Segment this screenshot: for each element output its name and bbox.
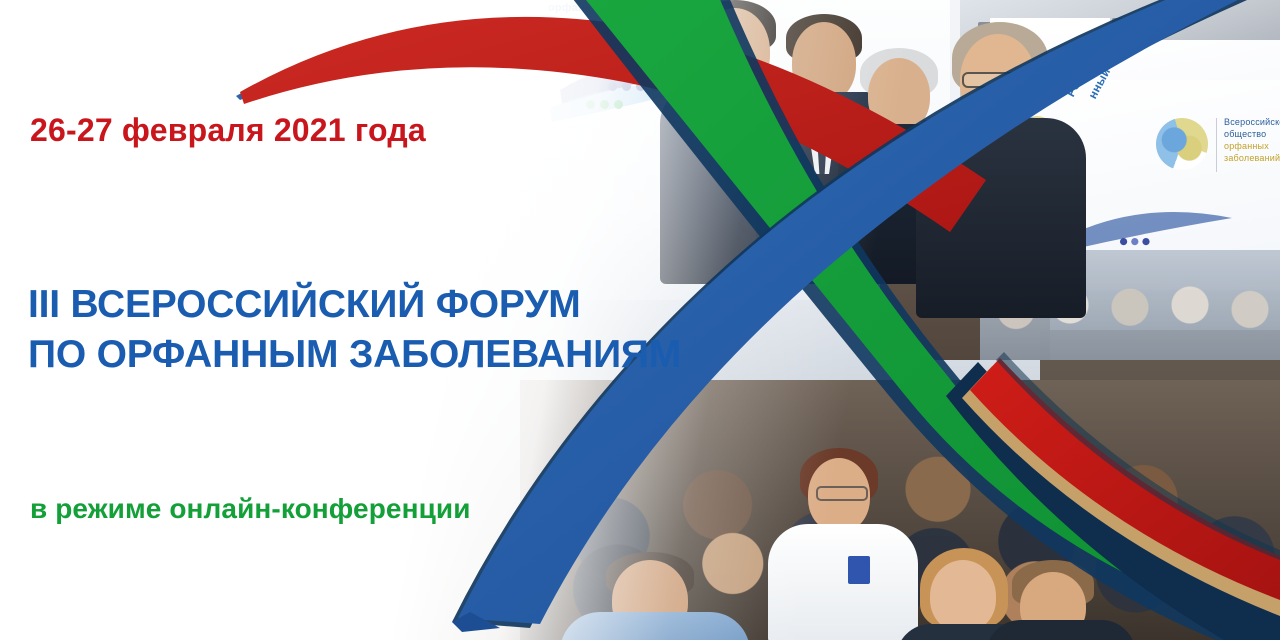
event-date: 26-27 февраля 2021 года bbox=[30, 112, 426, 149]
page-title: III ВСЕРОССИЙСКИЙ ФОРУМ ПО ОРФАННЫМ ЗАБО… bbox=[28, 280, 681, 380]
forum-promo-banner: орфанный форум Всероссийское bbox=[0, 0, 1280, 640]
page-title-line1: III ВСЕРОССИЙСКИЙ ФОРУМ bbox=[28, 283, 581, 326]
event-format-subtitle: в режиме онлайн-конференции bbox=[30, 493, 471, 525]
page-title-line2: ПО ОРФАННЫМ ЗАБОЛЕВАНИЯМ bbox=[28, 330, 681, 380]
